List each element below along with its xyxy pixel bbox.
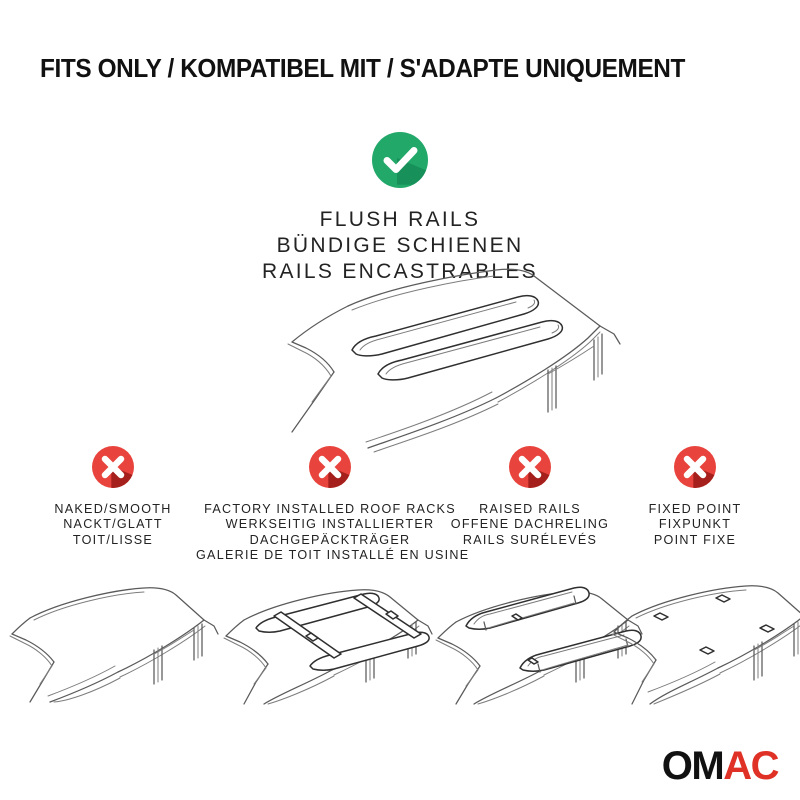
option-label-de: OFFENE DACHRELING: [430, 517, 630, 532]
status-icon-wrap: [196, 446, 464, 494]
x-glyph: [92, 446, 134, 488]
x-circle-icon: [509, 446, 551, 488]
status-icon-wrap: [0, 446, 226, 494]
option-labels: NAKED/SMOOTH NACKT/GLATT TOIT/LISSE: [0, 502, 226, 548]
option-labels: RAISED RAILS OFFENE DACHRELING RAILS SUR…: [430, 502, 630, 548]
option-label-fr: RAILS SURÉLEVÉS: [430, 533, 630, 548]
status-icon-wrap: [602, 446, 788, 494]
logo-text-om: OM: [662, 744, 723, 788]
car-roof-factory-racks-illustration: [214, 554, 436, 704]
option-labels: FIXED POINT FIXPUNKT POINT FIXE: [602, 502, 788, 548]
car-roof-fixed-point-illustration: [604, 554, 800, 704]
incompatible-option-naked-smooth: NAKED/SMOOTH NACKT/GLATT TOIT/LISSE: [0, 446, 226, 548]
incompatible-option-fixed-point: FIXED POINT FIXPUNKT POINT FIXE: [602, 446, 788, 548]
approved-label-de: BÜNDIGE SCHIENEN: [0, 233, 800, 259]
x-circle-icon: [674, 446, 716, 488]
x-circle-icon: [309, 446, 351, 488]
car-roof-naked-smooth-illustration: [8, 562, 218, 702]
option-label-de: NACKT/GLATT: [0, 517, 226, 532]
x-circle-icon: [92, 446, 134, 488]
option-label-en: FACTORY INSTALLED ROOF RACKS: [196, 502, 464, 517]
option-label-fr: TOIT/LISSE: [0, 533, 226, 548]
option-label-en: NAKED/SMOOTH: [0, 502, 226, 517]
x-glyph: [309, 446, 351, 488]
logo-text-ac: AC: [723, 744, 778, 788]
x-glyph: [674, 446, 716, 488]
omac-logo: OMAC: [662, 746, 778, 786]
option-label-de: FIXPUNKT: [602, 517, 788, 532]
page-title: FITS ONLY / KOMPATIBEL MIT / S'ADAPTE UN…: [40, 55, 737, 84]
option-label-en: FIXED POINT: [602, 502, 788, 517]
approved-label-en: FLUSH RAILS: [0, 207, 800, 233]
option-label-fr: POINT FIXE: [602, 533, 788, 548]
status-icon-wrap: [430, 446, 630, 494]
x-glyph: [509, 446, 551, 488]
incompatible-option-raised-rails: RAISED RAILS OFFENE DACHRELING RAILS SUR…: [430, 446, 630, 548]
option-label-de-1: WERKSEITIG INSTALLIERTER: [196, 517, 464, 532]
check-glyph: [372, 132, 428, 188]
fitment-chart-page: FITS ONLY / KOMPATIBEL MIT / S'ADAPTE UN…: [0, 0, 800, 800]
check-circle-icon: [372, 132, 428, 188]
car-roof-flush-rails-illustration: [196, 262, 626, 442]
incompatible-option-factory-racks: FACTORY INSTALLED ROOF RACKS WERKSEITIG …: [196, 446, 464, 563]
option-label-de-2: DACHGEPÄCKTRÄGER: [196, 533, 464, 548]
option-label-en: RAISED RAILS: [430, 502, 630, 517]
